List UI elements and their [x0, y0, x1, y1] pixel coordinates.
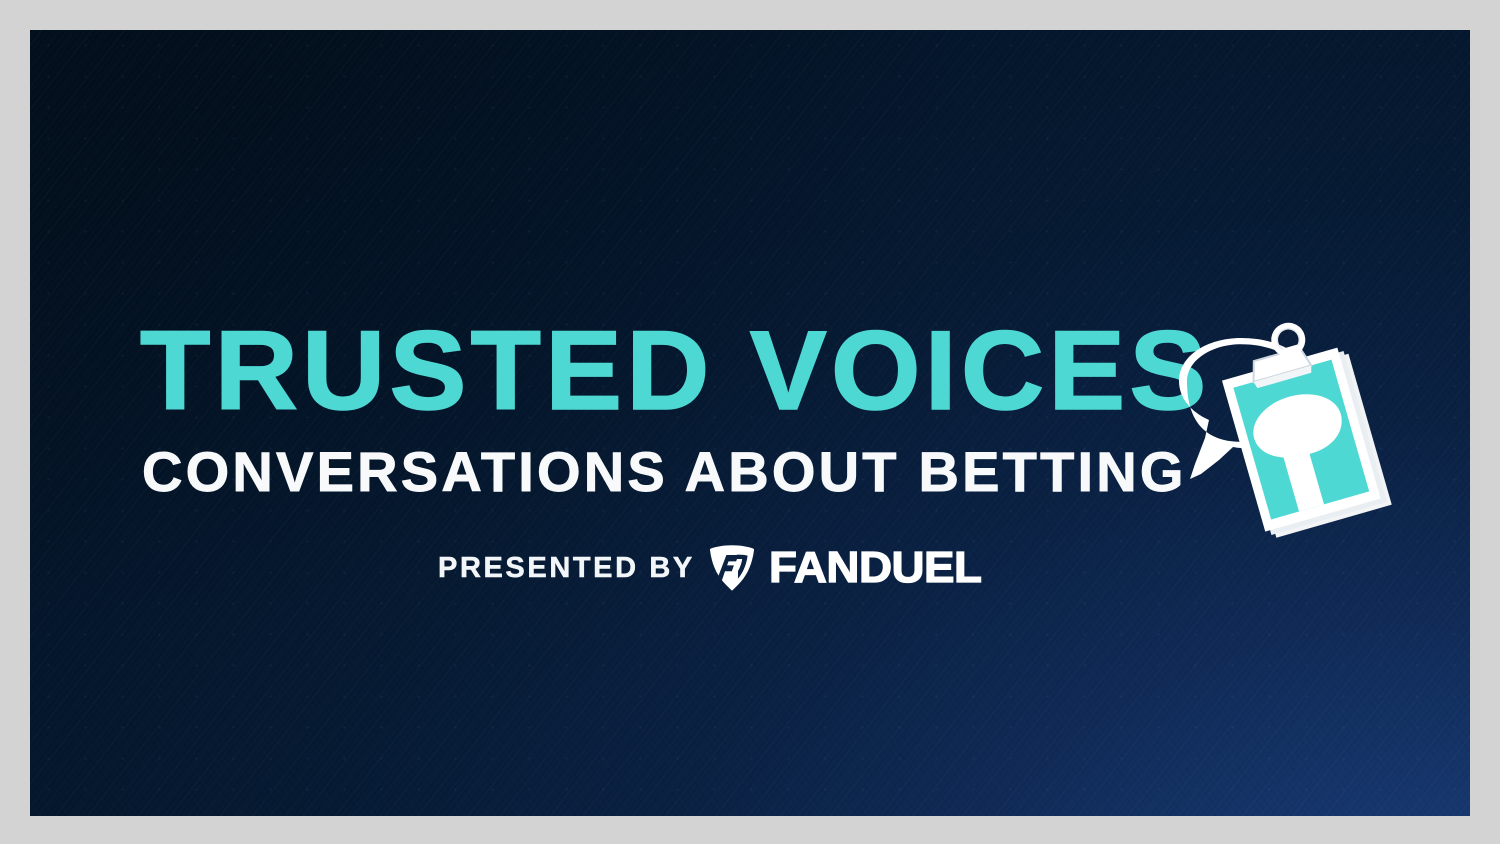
clipboard-shape — [1212, 311, 1391, 540]
fanduel-wordmark: FANDUEL — [769, 543, 981, 593]
presented-by-label: PRESENTED BY — [438, 552, 695, 585]
page-title: TRUSTED VOICES — [140, 312, 1210, 430]
screenshot-canvas: TRUSTED VOICES CONVERSATIONS ABOUT BETTI… — [0, 0, 1500, 844]
title-lockup: TRUSTED VOICES CONVERSATIONS ABOUT BETTI… — [30, 30, 1470, 816]
presentation-slide: TRUSTED VOICES CONVERSATIONS ABOUT BETTI… — [30, 30, 1470, 816]
presented-by-row: PRESENTED BY FANDUEL — [438, 542, 973, 594]
fanduel-shield-icon — [709, 544, 755, 592]
speech-bubble-clipboard-icon — [1145, 308, 1395, 543]
page-subtitle: CONVERSATIONS ABOUT BETTING — [142, 442, 1187, 502]
